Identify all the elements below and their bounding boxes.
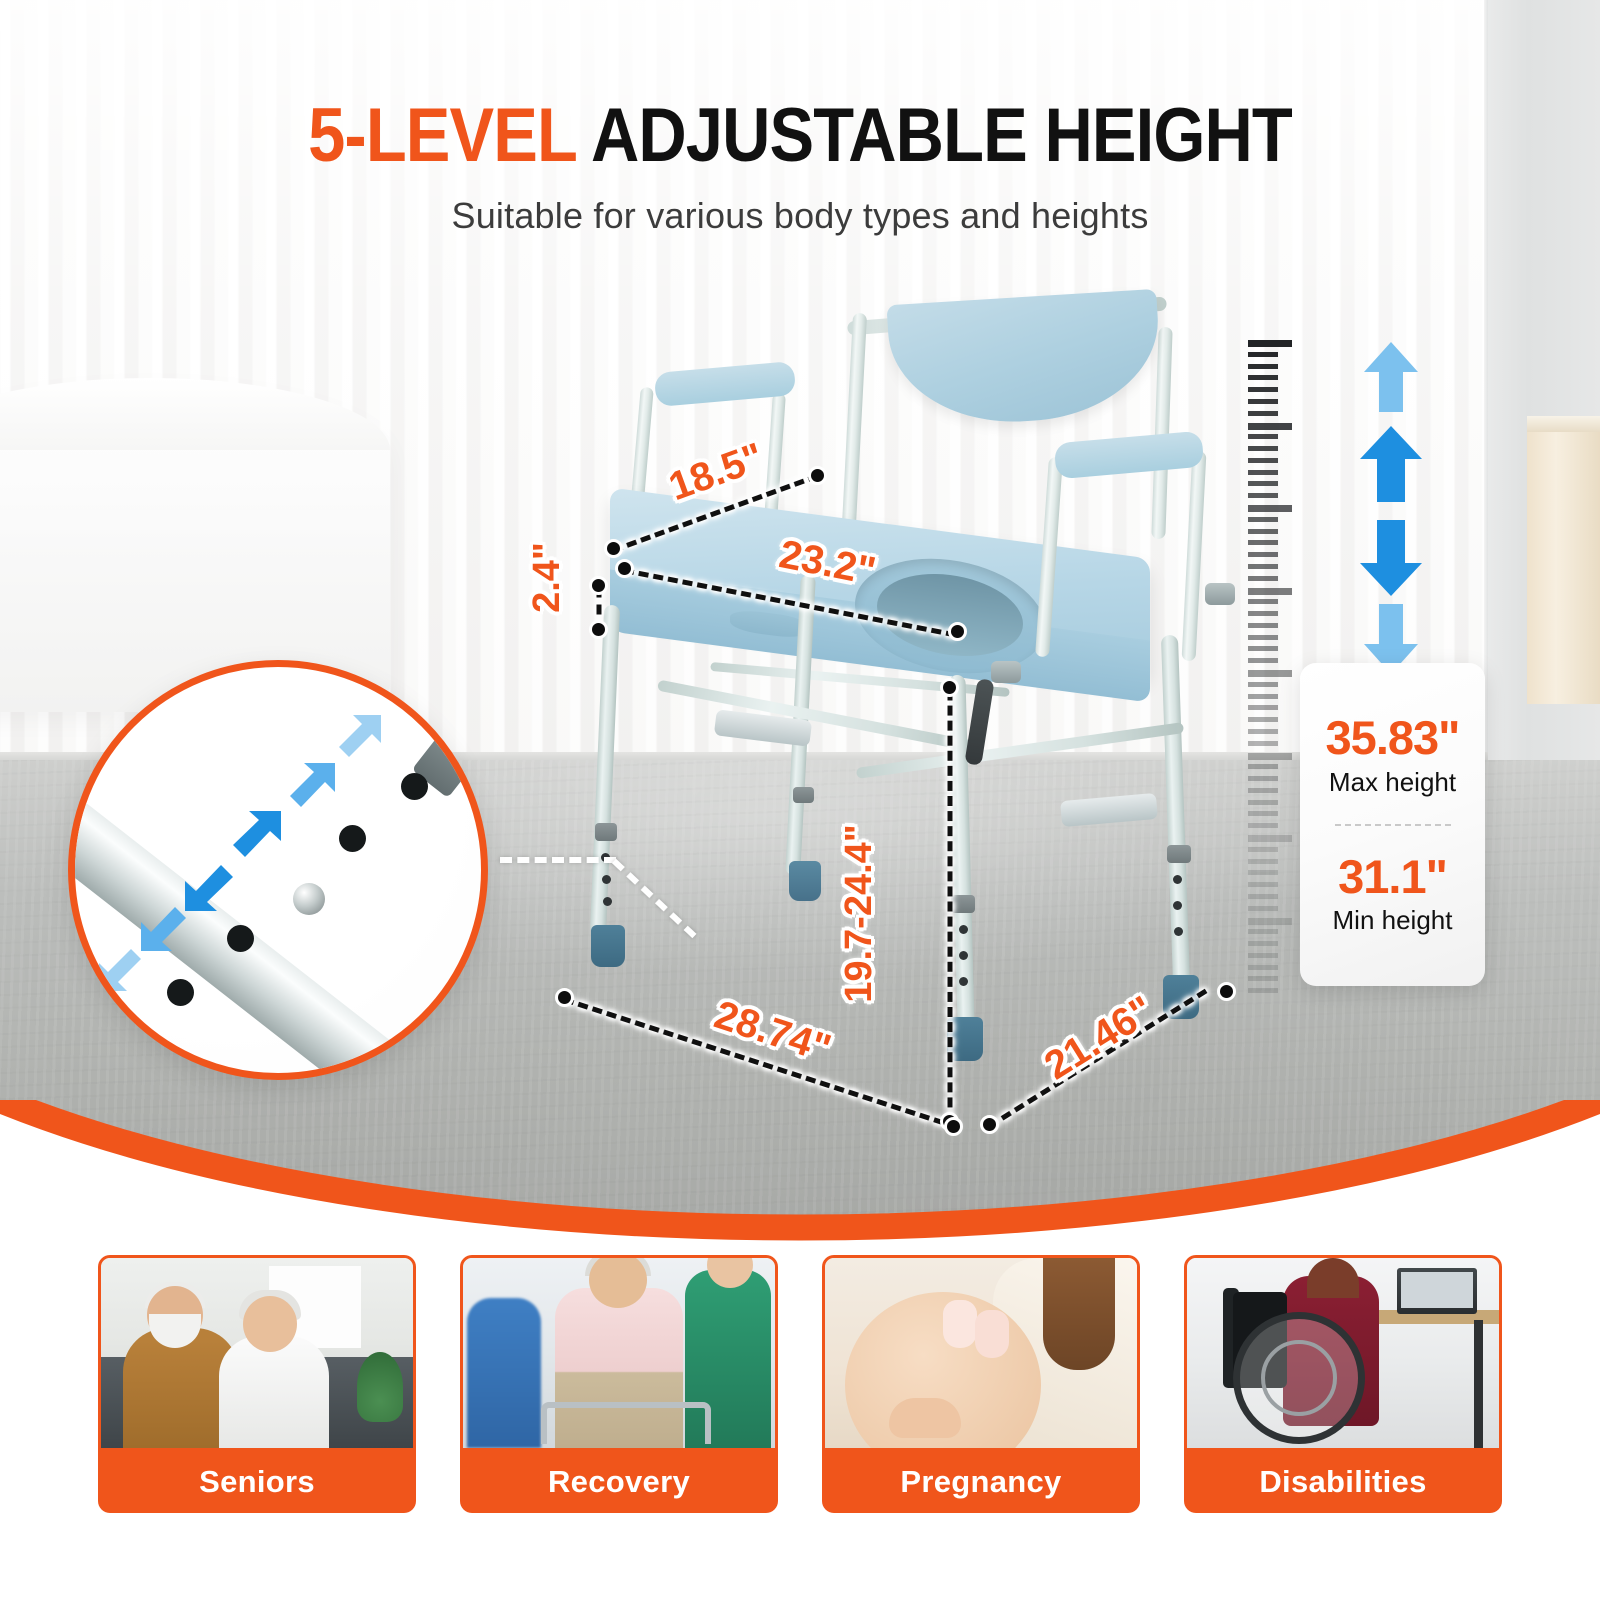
use-case-label-disabilities: Disabilities [1184,1451,1502,1513]
ruler-tick [1248,741,1278,746]
use-case-photo-pregnancy [822,1255,1140,1451]
tube-hole [227,925,254,952]
ruler-tick [1248,870,1278,875]
ruler-tick [1248,352,1278,357]
adjust-hole [602,875,611,884]
arrow-down-dark-icon [1356,518,1426,598]
ruler-tick [1248,458,1278,463]
ruler-tick [1248,375,1278,380]
use-case-photo-recovery [460,1255,778,1451]
ruler-tick [1248,859,1278,864]
ruler-tick [1248,588,1292,595]
card-divider [1335,824,1451,826]
ruler-tick [1248,882,1278,887]
dim-dot [808,466,827,485]
leg-collar-front-left [595,823,617,841]
adjust-hole [1174,927,1183,936]
tube-hole [401,773,428,800]
ruler-tick [1248,694,1278,699]
ruler-tick [1248,670,1292,677]
ruler-tick [1248,599,1278,604]
rubber-foot-back-left [789,861,821,901]
ruler-tick [1248,493,1278,498]
adjust-hole [959,925,968,934]
ruler-tick [1248,540,1278,545]
ruler-tick [1248,611,1278,616]
use-case-label-seniors: Seniors [98,1451,416,1513]
use-case-cards: Seniors Recovery Pregnancy [0,1255,1600,1555]
use-case-card-seniors[interactable]: Seniors [98,1255,416,1555]
ruler-tick [1248,517,1278,522]
arrow-down-left-light-icon [95,941,149,995]
dim-dot [589,576,608,595]
adjust-hole [1173,901,1182,910]
ruler-tick [1248,529,1278,534]
ruler-tick [1248,411,1278,416]
seat-lock-knob[interactable] [991,661,1021,683]
crossbar-sleeve-right [1060,793,1158,827]
ruler-tick [1248,340,1292,347]
ruler-tick [1248,576,1278,581]
dim-label-seat-thickness: 2.4" [526,542,569,613]
ruler-tick [1248,505,1292,512]
dim-dot [555,988,574,1007]
callout-leader-line-h [500,857,616,863]
header-block: 5-LEVEL ADJUSTABLE HEIGHT Suitable for v… [0,92,1600,237]
spring-release-pin [293,883,325,915]
use-case-card-pregnancy[interactable]: Pregnancy [822,1255,1140,1555]
dim-dot [604,539,623,558]
arrow-up-light-icon [1360,340,1422,414]
use-case-label-recovery: Recovery [460,1451,778,1513]
wood-panel [1527,432,1600,704]
ruler-tick [1248,835,1292,842]
use-case-photo-seniors [98,1255,416,1451]
ruler-tick [1248,717,1278,722]
adjust-hole [603,897,612,906]
dim-line-seat-height [948,691,953,1123]
ruler-tick [1248,658,1278,663]
min-height-value: 31.1" [1338,852,1447,901]
title-highlight: 5-LEVEL [308,93,576,178]
ruler-tick [1248,705,1278,710]
adjust-hole [959,951,968,960]
ruler-tick [1248,788,1278,793]
dim-dot [589,620,608,639]
use-case-photo-disabilities [1184,1255,1502,1451]
ruler-tick [1248,823,1278,828]
ruler-tick [1248,387,1278,392]
title-rest: ADJUSTABLE HEIGHT [576,93,1292,178]
leg-front-left [590,605,620,935]
orange-curve-divider [0,1100,1600,1260]
ruler-tick [1248,929,1278,934]
max-height-label: Max height [1329,767,1456,798]
ruler-tick [1248,776,1278,781]
min-height-label: Min height [1333,905,1453,936]
ruler-tick [1248,918,1292,925]
height-ruler [1248,340,1294,1000]
use-case-card-disabilities[interactable]: Disabilities [1184,1255,1502,1555]
tube-adjustment-callout [68,660,488,1080]
dim-dot [948,622,967,641]
ruler-tick [1248,953,1278,958]
ruler-tick [1248,988,1278,993]
ruler-tick [1248,753,1292,760]
height-range-card: 35.83" Max height 31.1" Min height [1300,663,1485,986]
ruler-tick [1248,564,1278,569]
ruler-tick [1248,965,1278,970]
armrest-frame-right-rear [1182,451,1207,661]
frame-brace-left [657,680,983,754]
ruler-tick [1248,364,1278,369]
ruler-tick [1248,481,1278,486]
ruler-tick [1248,894,1278,899]
ruler-tick [1248,941,1278,946]
ruler-tick [1248,423,1292,430]
ruler-tick [1248,811,1278,816]
backrest-pad [886,289,1163,429]
arrow-up-right-light-icon [331,711,385,765]
dim-label-seat-height: 19.7-24.4" [838,824,881,1003]
ruler-tick [1248,682,1278,687]
ruler-tick [1248,729,1278,734]
ruler-tick [1248,906,1278,911]
side-adjust-knob[interactable] [1205,583,1235,605]
leg-collar-back-right [1167,845,1191,863]
armrest-pad-right [1054,431,1205,480]
leg-collar-back-left [793,787,814,803]
ruler-tick [1248,764,1278,769]
backrest-post-left [841,313,867,545]
ruler-tick [1248,847,1278,852]
ruler-tick [1248,976,1278,981]
ruler-tick [1248,434,1278,439]
commode-chair [555,275,1275,1155]
ruler-tick [1248,646,1278,651]
max-height-value: 35.83" [1326,713,1460,762]
ruler-tick [1248,470,1278,475]
leg-collar-front-right [951,895,975,913]
dim-dot [1217,982,1236,1001]
ruler-tick [1248,399,1278,404]
tube-hole [167,979,194,1006]
page-title: 5-LEVEL ADJUSTABLE HEIGHT [96,92,1504,179]
page-subtitle: Suitable for various body types and heig… [0,195,1600,237]
ruler-tick [1248,800,1278,805]
adjust-hole [959,977,968,986]
ruler-tick [1248,446,1278,451]
rubber-foot-front-left [591,925,625,967]
ruler-tick [1248,635,1278,640]
ruler-tick [1248,552,1278,557]
use-case-card-recovery[interactable]: Recovery [460,1255,778,1555]
arrow-up-right-mid-icon [283,759,339,815]
tube-hole [339,825,366,852]
ruler-tick [1248,623,1278,628]
arrow-up-dark-icon [1356,424,1426,504]
adjust-hole [1173,875,1182,884]
use-case-label-pregnancy: Pregnancy [822,1451,1140,1513]
dim-dot [940,678,959,697]
dim-dot [615,559,634,578]
